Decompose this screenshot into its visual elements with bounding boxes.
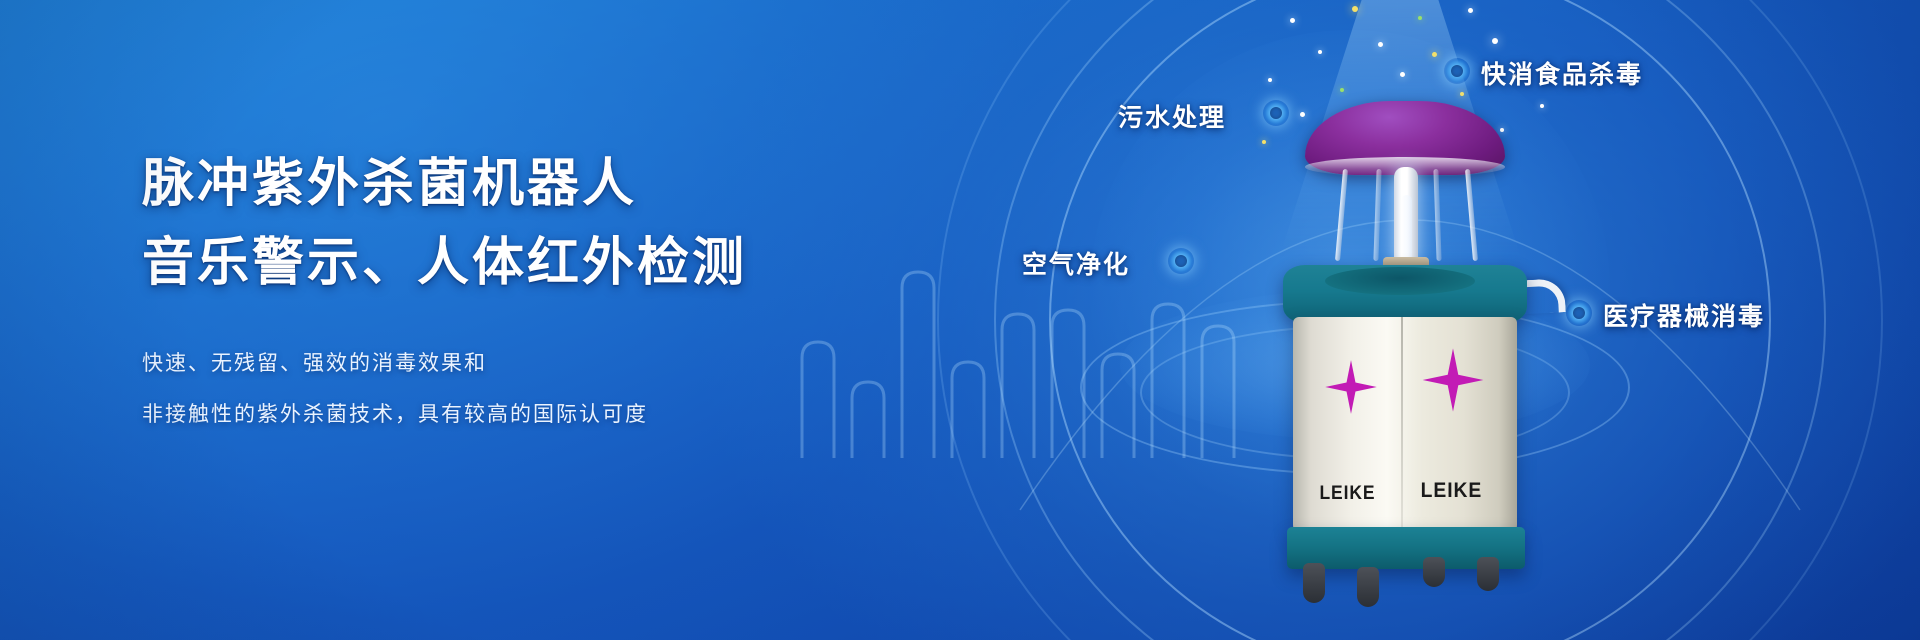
description-line-2: 非接触性的紫外杀菌技术，具有较高的国际认可度 (142, 392, 902, 437)
lamp-strut-right (1465, 169, 1478, 261)
brand-star-icon-left (1323, 359, 1379, 415)
caster-wheel (1477, 557, 1499, 591)
brand-star-icon-right (1420, 347, 1486, 413)
device-top-recess (1325, 267, 1475, 295)
promo-banner: 脉冲紫外杀菌机器人 音乐警示、人体红外检测 快速、无残留、强效的消毒效果和 非接… (0, 0, 1920, 640)
copy-block: 脉冲紫外杀菌机器人 音乐警示、人体红外检测 快速、无残留、强效的消毒效果和 非接… (142, 150, 902, 438)
uv-disinfection-robot: LEIKE LEIKE (1255, 95, 1555, 595)
brand-wordmark-right: LEIKE (1421, 479, 1482, 503)
page-title: 脉冲紫外杀菌机器人 (142, 150, 902, 219)
caster-wheel (1303, 563, 1325, 603)
caster-wheel (1357, 567, 1379, 607)
feature-label-medical-device: 医疗器械消毒 (1603, 297, 1765, 333)
lamp-strut-mid-right (1433, 169, 1441, 261)
feature-label-fmcg-food: 快消食品杀毒 (1481, 55, 1643, 91)
page-subtitle: 音乐警示、人体红外检测 (142, 229, 902, 298)
lamp-strut-mid-left (1373, 169, 1381, 261)
device-body-edge (1401, 317, 1403, 535)
feature-node-fmcg-food-icon (1444, 58, 1470, 84)
lamp-strut-left (1335, 169, 1348, 261)
caster-wheel (1423, 557, 1445, 587)
feature-label-air-purification: 空气净化 (1022, 245, 1130, 281)
feature-label-wastewater: 污水处理 (1118, 98, 1226, 134)
feature-node-air-purification-icon (1168, 248, 1194, 274)
brand-wordmark-left: LEIKE (1319, 483, 1375, 505)
feature-node-medical-device-icon (1566, 300, 1592, 326)
description-line-1: 快速、无残留、强效的消毒效果和 (142, 341, 902, 386)
